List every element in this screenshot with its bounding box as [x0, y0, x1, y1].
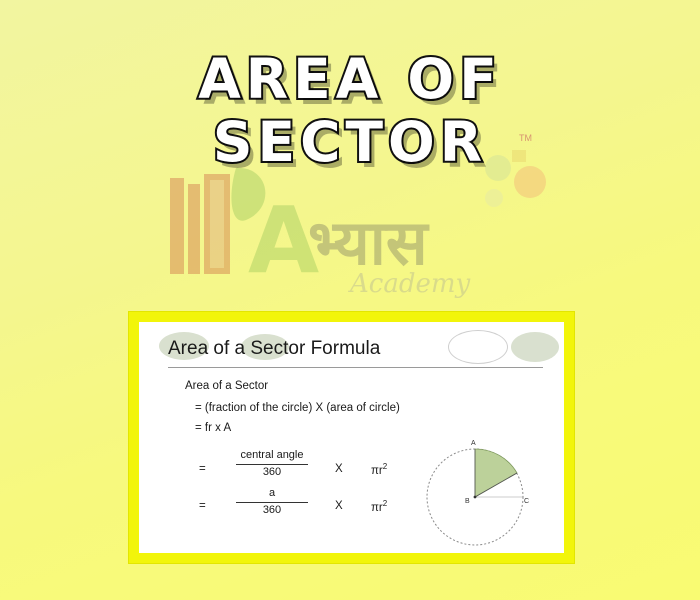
diagram-label-b: B — [465, 498, 470, 505]
equation-2-fraction: a 360 — [236, 487, 308, 518]
page-title-line-1: AREA OF — [0, 52, 700, 107]
dot-pale-icon — [485, 189, 503, 207]
page-title-line-2: SECTOR — [0, 115, 700, 170]
equation-1-expression-exponent: 2 — [383, 462, 387, 471]
equation-1-numerator: central angle — [236, 449, 308, 463]
svg-text:A: A — [248, 187, 319, 294]
equation-2-expression-base: πr — [371, 502, 383, 514]
equation-1-expression-base: πr — [371, 465, 383, 477]
decorative-ellipse-3 — [448, 330, 508, 364]
equation-1-fraction-bar — [236, 464, 308, 465]
center-point-icon — [474, 496, 477, 499]
equation-2-equals: = — [199, 500, 206, 512]
diagram-label-c: C — [524, 498, 529, 505]
book-icon — [170, 174, 230, 274]
equation-1-expression: πr2 — [371, 462, 387, 477]
equation-2-denominator: 360 — [236, 504, 308, 518]
card-subheading: Area of a Sector — [185, 380, 268, 392]
formula-card: Area of a Sector Formula Area of a Secto… — [128, 311, 575, 564]
equation-2-fraction-bar — [236, 502, 308, 503]
poster-page: A भ्यास Academy TM AREA OF SECTOR A — [0, 0, 700, 600]
card-heading: Area of a Sector Formula — [168, 338, 380, 360]
formula-line-2: = fr x A — [195, 422, 231, 434]
formula-card-inner: Area of a Sector Formula Area of a Secto… — [139, 322, 564, 553]
equation-2-numerator: a — [236, 487, 308, 501]
equation-1-denominator: 360 — [236, 466, 308, 480]
decorative-ellipse-4 — [511, 332, 559, 362]
diagram-label-a: A — [471, 440, 476, 447]
page-title: AREA OF SECTOR — [0, 52, 700, 178]
watermark-logo: A भ्यास Academy — [150, 160, 570, 300]
formula-line-1: = (fraction of the circle) X (area of ci… — [195, 402, 400, 414]
sector-diagram: A B C — [425, 442, 543, 552]
equation-1-equals: = — [199, 463, 206, 475]
equation-1-operator: X — [335, 463, 343, 475]
brand-initial: A — [248, 187, 319, 294]
sector-region-icon — [475, 449, 517, 497]
svg-text:Academy: Academy — [348, 269, 471, 299]
equation-1-fraction: central angle 360 — [236, 449, 308, 480]
equation-2-expression: πr2 — [371, 499, 387, 514]
svg-text:भ्यास: भ्यास — [308, 206, 430, 279]
equation-2-expression-exponent: 2 — [383, 499, 387, 508]
equation-2-operator: X — [335, 500, 343, 512]
heading-divider — [168, 367, 543, 368]
